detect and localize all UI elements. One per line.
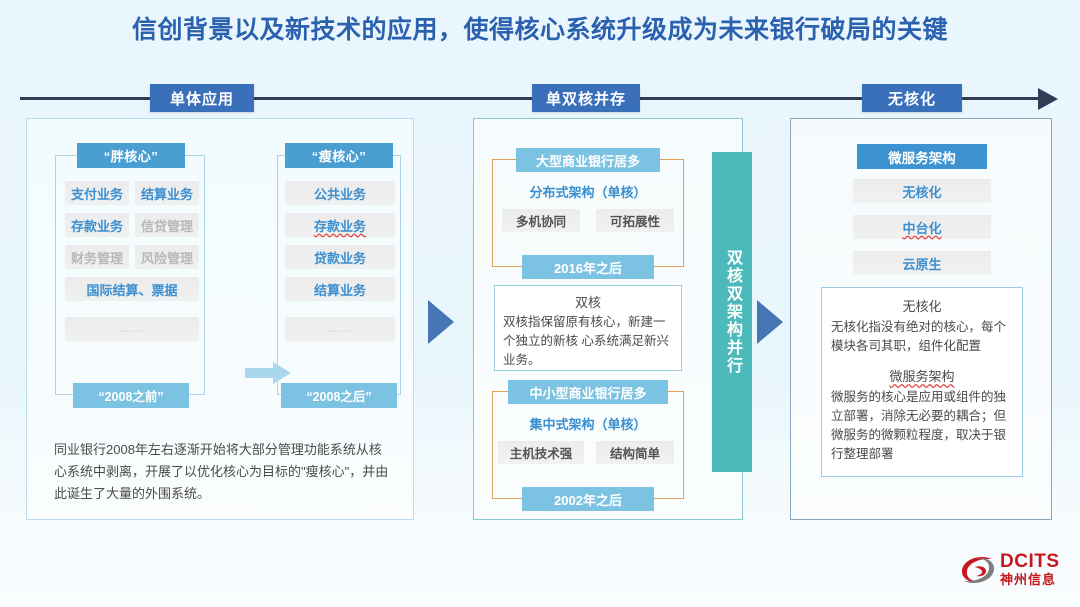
- coreless-cell-text: 中台化: [902, 218, 941, 237]
- panel-monolithic: “胖核心” 支付业务 结算业务 存款业务 信贷管理 财务管理 风险管理 国际结算…: [26, 118, 414, 520]
- panel-transition-arrow-2-icon: [757, 300, 783, 344]
- coreless-description: 无核化 无核化指没有绝对的核心，每个模块各司其职，组件化配置 微服务架构 微服务…: [821, 287, 1023, 477]
- dual-core-top-sub: 分布式架构（单核）: [492, 181, 684, 201]
- timeline-stage-2[interactable]: 单双核并存: [532, 84, 640, 112]
- dual-core-bottom-foot: 2002年之后: [522, 487, 654, 511]
- coreless-cell: 无核化: [853, 179, 991, 203]
- coreless-description-title-1: 无核化: [831, 296, 1013, 315]
- fat-core-cell: 风险管理: [135, 245, 199, 269]
- coreless-description-body-2: 微服务的核心是应用或组件的独立部署，消除无必要的耦合；但微服务的微颗粒程度，取决…: [831, 388, 1013, 464]
- page-title: 信创背景以及新技术的应用，使得核心系统升级成为未来银行破局的关键: [132, 10, 948, 46]
- thin-core-cell: 公共业务: [285, 181, 395, 205]
- coreless-description-body-1: 无核化指没有绝对的核心，每个模块各司其职，组件化配置: [831, 318, 1013, 356]
- fat-core-cell: 财务管理: [65, 245, 129, 269]
- dual-architecture-bar: 双核双架构并行: [712, 152, 752, 472]
- dual-core-top-foot: 2016年之后: [522, 255, 654, 279]
- panel-transition-arrow-1-icon: [428, 300, 454, 344]
- thin-core-cell-ellipsis: ……: [285, 317, 395, 341]
- page-title-bar: 信创背景以及新技术的应用，使得核心系统升级成为未来银行破局的关键: [0, 0, 1080, 56]
- dual-core-description-title: 双核: [503, 292, 673, 311]
- fat-core-cell: 国际结算、票据: [65, 277, 199, 301]
- dual-core-bottom-tag: 结构简单: [596, 441, 674, 464]
- dual-core-top-tag: 多机协同: [502, 209, 580, 232]
- coreless-description-title-2-text: 微服务架构: [889, 369, 954, 384]
- fat-core-head: “胖核心”: [77, 143, 185, 168]
- coreless-cell: 中台化: [853, 215, 991, 239]
- dual-core-top-head: 大型商业银行居多: [516, 148, 660, 172]
- thin-core-cell-text: 存款业务: [314, 216, 366, 235]
- timeline-arrow-icon: [1038, 88, 1058, 110]
- fat-core-cell: 存款业务: [65, 213, 129, 237]
- thin-core-cell: 结算业务: [285, 277, 395, 301]
- dual-core-bottom-head: 中小型商业银行居多: [508, 380, 668, 404]
- dual-core-description: 双核 双核指保留原有核心，新建一个独立的新核 心系统满足新兴业务。: [494, 285, 682, 371]
- dual-core-description-body: 双核指保留原有核心，新建一个独立的新核 心系统满足新兴业务。: [503, 313, 673, 370]
- panel-coreless: 微服务架构 无核化 中台化 云原生 无核化 无核化指没有绝对的核心，每个模块各司…: [790, 118, 1052, 520]
- panel-monolithic-note: 同业银行2008年左右逐渐开始将大部分管理功能系统从核心系统中剥离，开展了以优化…: [54, 439, 390, 505]
- logo-name-en: DCITS: [1000, 552, 1060, 572]
- dual-core-bottom-tag: 主机技术强: [498, 441, 584, 464]
- coreless-description-title-2: 微服务架构: [831, 366, 1013, 385]
- timeline-stage-3[interactable]: 无核化: [862, 84, 962, 112]
- coreless-cell: 云原生: [853, 251, 991, 275]
- dual-architecture-bar-label: 双核双架构并行: [720, 249, 744, 375]
- timeline-stage-1[interactable]: 单体应用: [150, 84, 254, 112]
- company-logo: DCITS 神州信息: [958, 550, 1070, 596]
- coreless-head: 微服务架构: [857, 144, 987, 169]
- fat-core-cell: 结算业务: [135, 181, 199, 205]
- timeline: 单体应用 单双核并存 无核化: [0, 84, 1080, 112]
- fat-core-cell: 信贷管理: [135, 213, 199, 237]
- fat-core-cell: 支付业务: [65, 181, 129, 205]
- dual-core-bottom-sub: 集中式架构（单核）: [492, 413, 684, 433]
- thin-core-cell: 贷款业务: [285, 245, 395, 269]
- fat-core-cell-ellipsis: ……: [65, 317, 199, 341]
- fat-core-foot: “2008之前”: [73, 383, 189, 408]
- logo-text: DCITS 神州信息: [1000, 552, 1060, 588]
- thin-core-cell: 存款业务: [285, 213, 395, 237]
- thin-core-foot: “2008之后”: [281, 383, 397, 408]
- panel-dual-core: 大型商业银行居多 分布式架构（单核） 多机协同 可拓展性 2016年之后 双核 …: [473, 118, 743, 520]
- dual-core-top-tag: 可拓展性: [596, 209, 674, 232]
- thin-core-head: “瘦核心”: [285, 143, 393, 168]
- dcits-swirl-icon: [958, 550, 998, 590]
- logo-name-cn: 神州信息: [1000, 572, 1060, 588]
